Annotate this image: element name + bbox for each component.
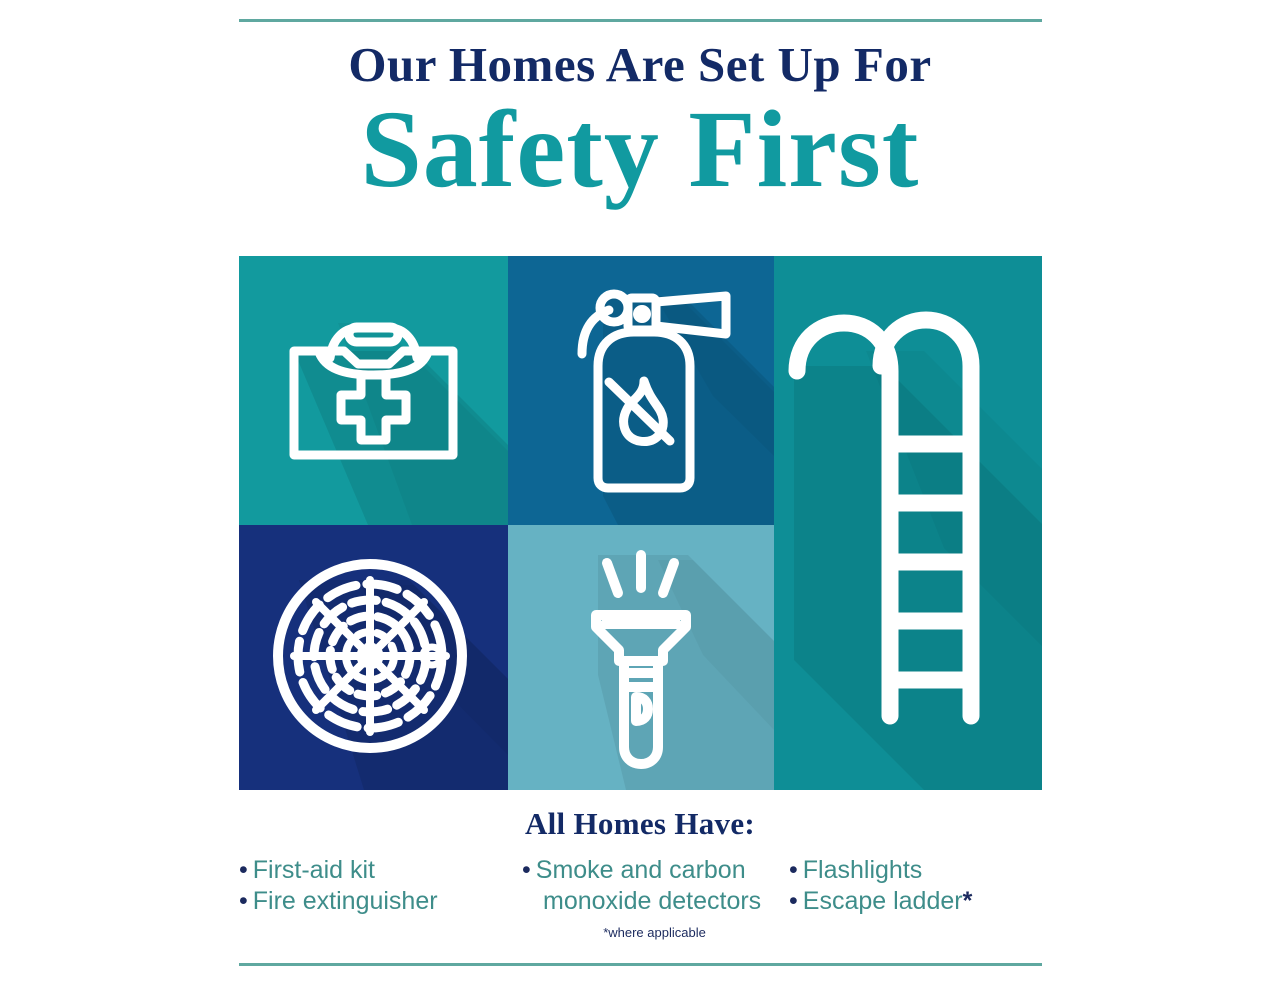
bullet-list-3: •Flashlights •Escape ladder* bbox=[789, 855, 1042, 917]
bullet-dot-icon: • bbox=[522, 856, 536, 884]
bullet-dot-icon: • bbox=[239, 887, 253, 915]
list-item: •First-aid kit bbox=[239, 855, 504, 886]
bullet-list-1: •First-aid kit •Fire extinguisher bbox=[239, 855, 504, 917]
smoke-detector-icon bbox=[239, 525, 508, 790]
list-item-label: First-aid kit bbox=[253, 856, 375, 884]
bullet-list-2: •Smoke and carbon monoxide detectors bbox=[522, 855, 787, 917]
bullet-dot-icon: • bbox=[239, 856, 253, 884]
list-item-label: Flashlights bbox=[803, 856, 923, 884]
heading-main: Safety First bbox=[0, 90, 1280, 208]
footnote-marker: * bbox=[963, 887, 973, 915]
all-homes-have-title: All Homes Have: bbox=[0, 806, 1280, 842]
tile-flashlight bbox=[508, 525, 774, 790]
checklist-column-2: •Smoke and carbon monoxide detectors bbox=[522, 855, 787, 917]
tile-fire-extinguisher bbox=[508, 256, 774, 525]
list-item-label: monoxide detectors bbox=[543, 887, 761, 915]
list-item: •Fire extinguisher bbox=[239, 886, 504, 917]
poster-heading: Our Homes Are Set Up For Safety First bbox=[0, 40, 1280, 207]
bottom-divider-rule bbox=[239, 963, 1042, 966]
tile-smoke-detector bbox=[239, 525, 508, 790]
heading-kicker: Our Homes Are Set Up For bbox=[0, 40, 1280, 90]
list-item-label: Fire extinguisher bbox=[253, 887, 438, 915]
bullet-dot-icon: • bbox=[789, 887, 803, 915]
top-divider-rule bbox=[239, 19, 1042, 22]
fire-extinguisher-icon bbox=[508, 256, 774, 525]
list-item: •Smoke and carbon bbox=[522, 855, 787, 886]
safety-poster: Our Homes Are Set Up For Safety First bbox=[0, 0, 1280, 989]
bullet-dot-icon: • bbox=[789, 856, 803, 884]
footnote-text: *where applicable bbox=[522, 925, 787, 940]
checklist-column-3: •Flashlights •Escape ladder* bbox=[789, 855, 1042, 917]
first-aid-kit-icon bbox=[239, 256, 508, 525]
checklist-columns: •First-aid kit •Fire extinguisher •Smoke… bbox=[239, 855, 1042, 950]
flashlight-icon bbox=[508, 525, 774, 790]
list-item-label: Smoke and carbon bbox=[536, 856, 746, 884]
icon-grid bbox=[239, 256, 1042, 790]
list-item: •Escape ladder* bbox=[789, 886, 1042, 917]
list-item-label: Escape ladder bbox=[803, 887, 963, 915]
list-item: •Flashlights bbox=[789, 855, 1042, 886]
tile-escape-ladder bbox=[774, 256, 1042, 790]
tile-first-aid-kit bbox=[239, 256, 508, 525]
list-item: monoxide detectors bbox=[522, 886, 787, 917]
checklist-column-1: •First-aid kit •Fire extinguisher bbox=[239, 855, 504, 917]
ladder-icon bbox=[774, 256, 1042, 790]
